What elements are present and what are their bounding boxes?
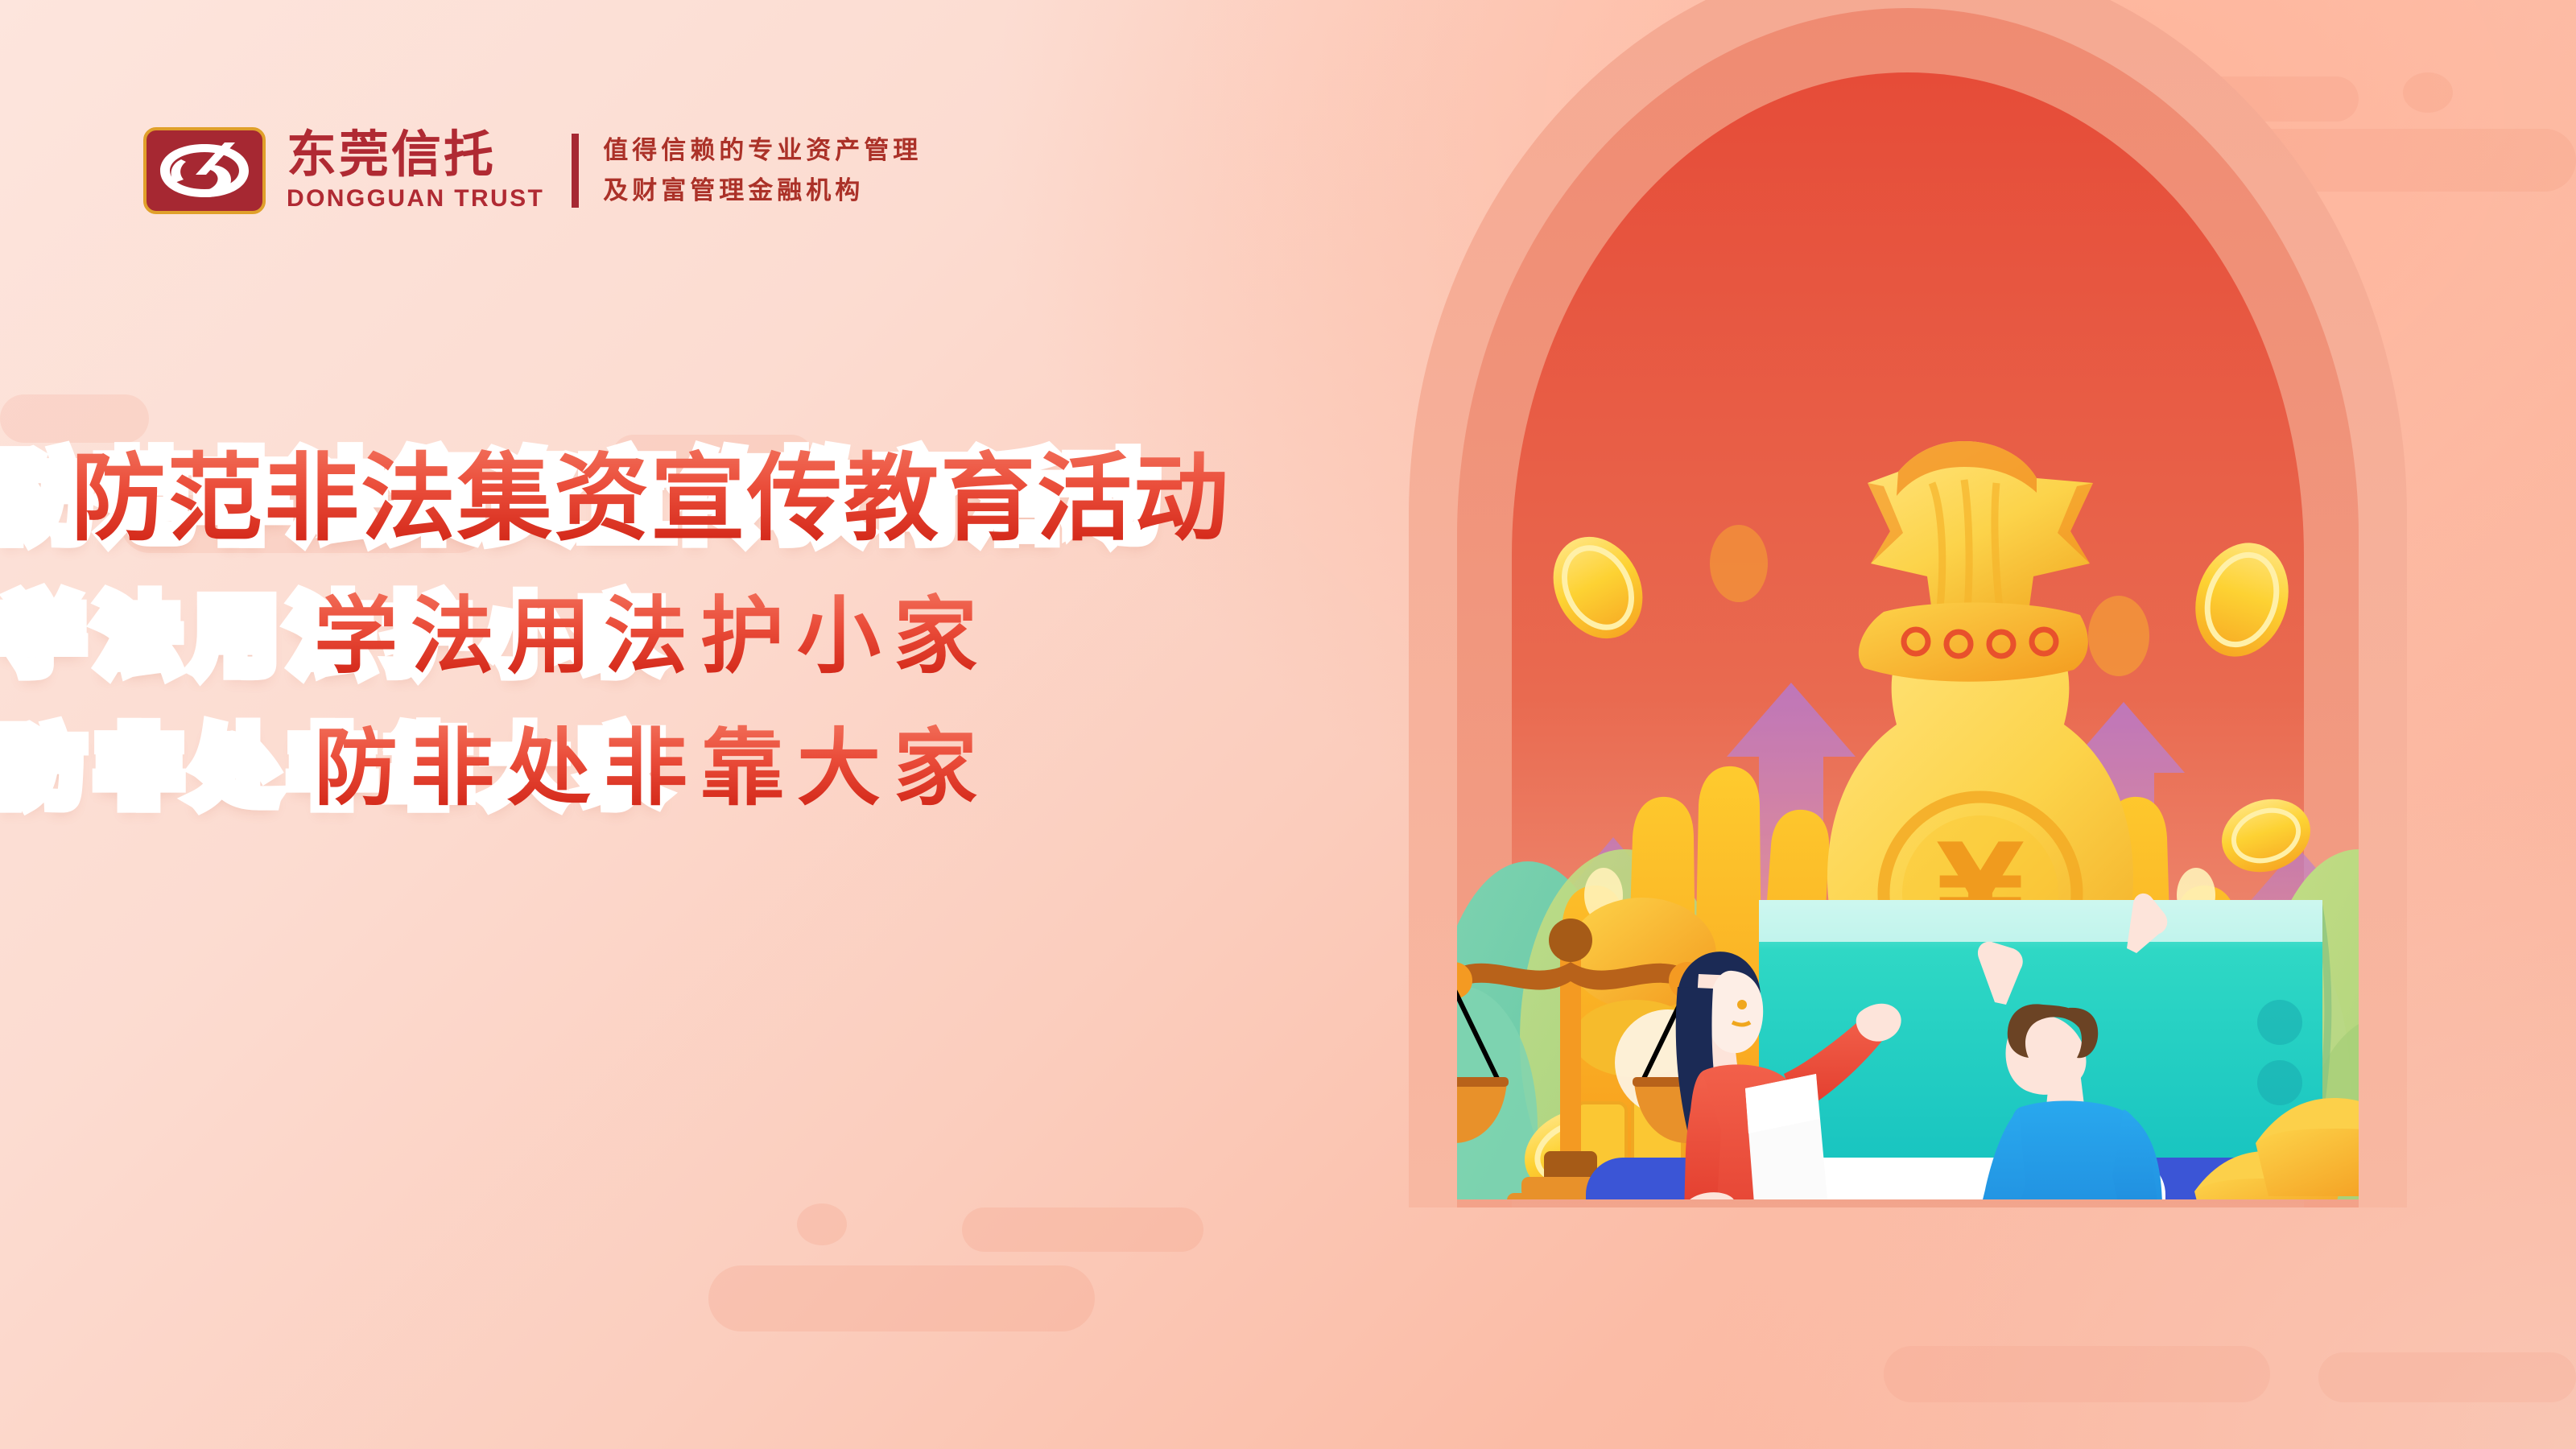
decorative-pill-2 <box>0 394 149 443</box>
brand-name-cn: 东莞信托 <box>287 129 544 180</box>
headline-line-3-fill: 防非处非靠大家 <box>314 719 990 817</box>
brand-header: 东莞信托 DONGGUAN TRUST 值得信赖的专业资产管理 及财富管理金融机… <box>143 127 922 214</box>
headline-line-2: 学法用法护小家 学法用法护小家 <box>0 594 1368 678</box>
brand-wordmark: 东莞信托 DONGGUAN TRUST <box>287 129 544 212</box>
decorative-pill-7 <box>962 1207 1203 1252</box>
poster-canvas: 东莞信托 DONGGUAN TRUST 值得信赖的专业资产管理 及财富管理金融机… <box>0 0 2576 1449</box>
headline-line-1: 防范非法集资宣传教育活动 防范非法集资宣传教育活动 <box>0 451 1368 546</box>
brand-divider <box>572 134 579 208</box>
page-title: 防范非法集资宣传教育活动 防范非法集资宣传教育活动 学法用法护小家 学法用法护小… <box>0 451 1368 858</box>
headline-line-2-fill: 学法用法护小家 <box>314 587 990 685</box>
decorative-pill-8 <box>708 1265 1095 1331</box>
dongguan-trust-swirl-logo-icon <box>143 127 266 214</box>
tagline-line-1: 值得信赖的专业资产管理 <box>603 130 922 171</box>
headline-line-3: 防非处非靠大家 防非处非靠大家 <box>0 726 1368 810</box>
brand-name-en: DONGGUAN TRUST <box>287 185 544 213</box>
decorative-pill-6 <box>797 1203 847 1245</box>
anti-illegal-fundraising-illustration: ¥ <box>1320 0 2576 1449</box>
brand-tagline: 值得信赖的专业资产管理 及财富管理金融机构 <box>603 130 922 211</box>
tagline-line-2: 及财富管理金融机构 <box>603 171 922 211</box>
headline-line-1-fill: 防范非法集资宣传教育活动 <box>71 443 1230 554</box>
